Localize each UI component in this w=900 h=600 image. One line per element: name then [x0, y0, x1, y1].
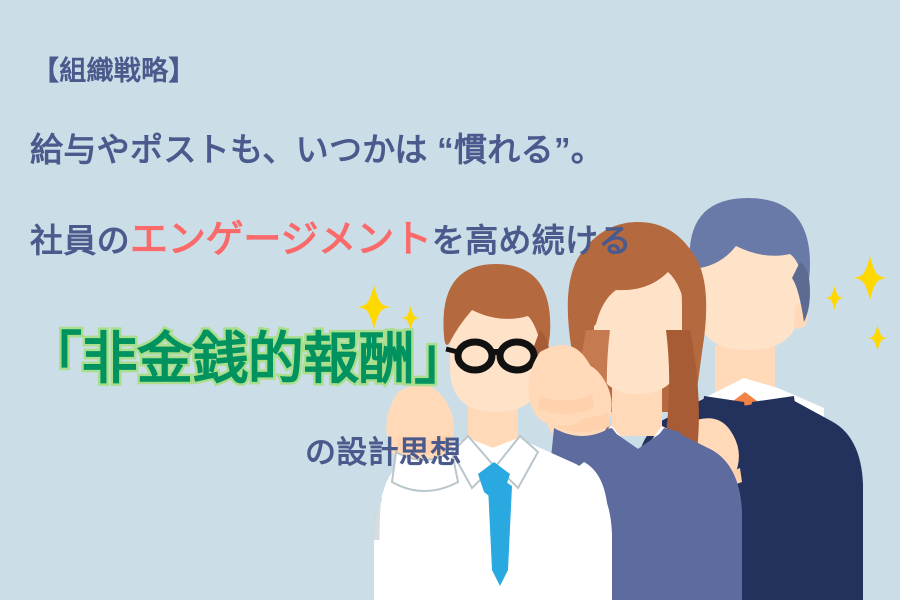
sparkle-small-right-lower-icon	[866, 325, 889, 351]
headline-line-2-post: を高め続ける	[432, 222, 632, 259]
headline-line-2-pre: 社員の	[30, 222, 130, 259]
headline-line-2-accent: エンゲージメント	[130, 219, 432, 261]
sparkle-small-right-upper-icon	[824, 286, 845, 310]
headline-keyword: 「非金銭的報酬」	[26, 331, 470, 387]
sparkle-large-left-icon	[355, 285, 393, 329]
kicker-text: 【組織戦略】	[32, 58, 196, 85]
headline-line-2: 社員のエンゲージメントを高め続ける	[30, 221, 632, 259]
people-illustration	[0, 0, 900, 600]
poster-canvas: 【組織戦略】 給与やポストも、いつかは “慣れる”。 社員のエンゲージメントを高…	[0, 0, 900, 600]
headline-line-4: の設計思想	[305, 437, 462, 468]
sparkle-large-right-icon	[851, 256, 889, 300]
headline-line-1: 給与やポストも、いつかは “慣れる”。	[30, 133, 604, 166]
